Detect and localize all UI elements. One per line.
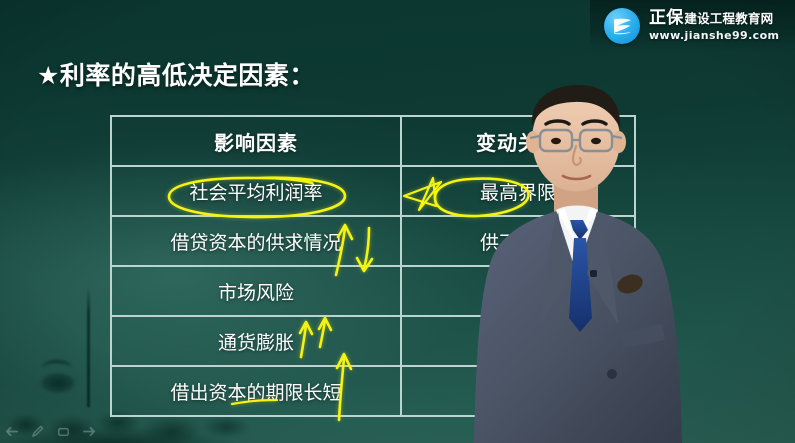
arrow-left-icon[interactable]	[4, 424, 19, 439]
brand-name-rest: 建设工程教育网	[684, 12, 773, 25]
page-title: ★利率的高低决定因素：	[37, 56, 315, 92]
brand-name-bold: 正保	[649, 10, 683, 28]
brand-watermark: 正保 建设工程教育网 www.jianshe99.com	[590, 0, 795, 52]
brand-name: 正保 建设工程教育网	[649, 10, 779, 28]
video-slide-frame: 正保 建设工程教育网 www.jianshe99.com ★利率的高低决定因素：…	[0, 0, 795, 443]
cell-factor: 社会平均利润率	[112, 167, 402, 215]
zhengbao-z-logo-icon	[604, 8, 640, 44]
cell-factor: 市场风险	[112, 267, 402, 315]
table-header-factor: 影响因素	[112, 117, 402, 165]
brand-website: www.jianshe99.com	[649, 29, 779, 42]
pen-icon[interactable]	[30, 424, 45, 439]
eraser-icon[interactable]	[56, 424, 71, 439]
arrow-right-icon[interactable]	[82, 424, 97, 439]
cell-factor: 借出资本的期限长短	[112, 367, 402, 415]
presenter-figure	[470, 74, 725, 443]
cell-factor: 通货膨胀	[112, 317, 402, 365]
cell-factor: 借贷资本的供求情况	[112, 217, 402, 265]
player-annotation-toolbar[interactable]	[4, 424, 97, 439]
